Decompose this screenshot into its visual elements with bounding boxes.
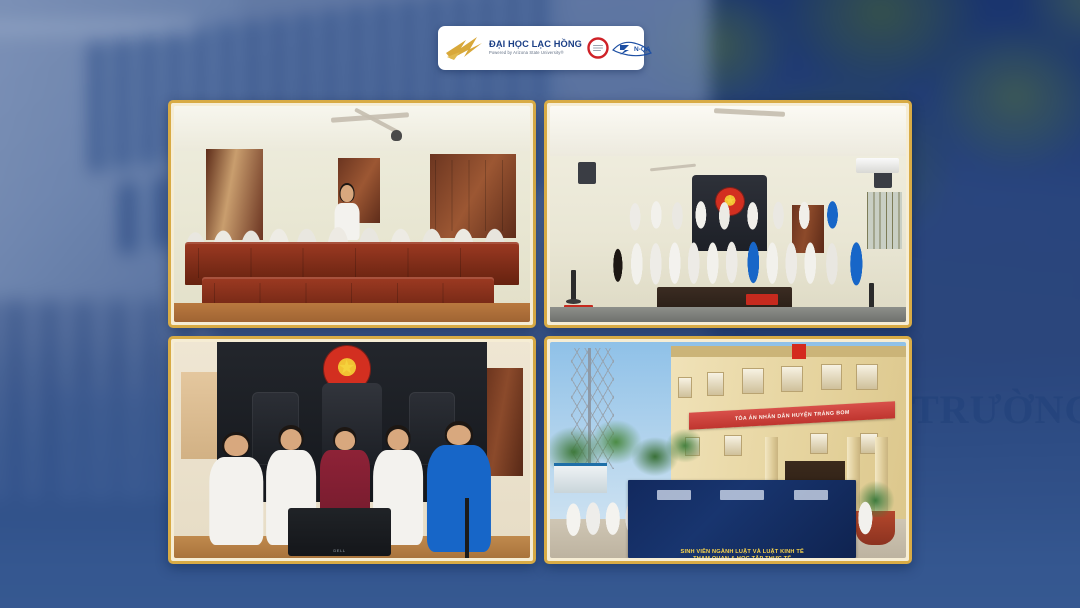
security-camera-icon	[391, 130, 402, 141]
robe-student-head	[327, 428, 363, 476]
microphone-stand	[465, 498, 469, 558]
banner-line-1: SINH VIÊN NGÀNH LUẬT VÀ LUẬT KINH TẾ	[681, 549, 804, 556]
building-window	[742, 368, 763, 394]
photo-courtroom-group	[550, 106, 906, 322]
university-tagline: Powered by Arizona State University®	[489, 51, 582, 56]
event-banner: SINH VIÊN NGÀNH LUẬT VÀ LUẬT KINH TẾ THA…	[628, 480, 856, 558]
lhu-arrow-logo-icon	[444, 33, 484, 63]
photo-frame-courtroom-audience[interactable]	[168, 100, 536, 328]
building-window	[707, 372, 725, 396]
building-window	[821, 364, 842, 390]
student-person	[210, 433, 263, 545]
photo-frame-courtroom-group[interactable]	[544, 100, 912, 328]
svg-text:N-QA: N-QA	[634, 46, 651, 53]
building-window	[810, 433, 828, 455]
banner-logo-chip	[794, 490, 828, 500]
university-name: ĐẠI HỌC LẠC HỒNG	[489, 40, 582, 50]
banner-line-2: THAM QUAN & HỌC TẬP THỰC TẾ	[693, 556, 791, 559]
wall-speaker	[578, 162, 596, 184]
banner-logo-chip	[720, 490, 764, 500]
banner-logo-chip	[657, 490, 691, 500]
banner-sponsor-logos	[628, 486, 856, 503]
photo-judge-bench	[174, 342, 530, 558]
building-window	[678, 377, 692, 399]
courtroom-floor	[550, 307, 906, 322]
courthouse-roofline	[671, 346, 906, 357]
accreditation-seal-icon	[587, 37, 609, 59]
photo-frame-judge-bench[interactable]	[168, 336, 536, 564]
watermark-text: TRƯỜNG Đ	[912, 386, 1080, 433]
microphone	[571, 270, 576, 300]
photo-grid: TÒA ÁN NHÂN DÂN HUYỆN TRẢNG BOM	[168, 100, 912, 572]
photo-frame-courthouse-exterior[interactable]: TÒA ÁN NHÂN DÂN HUYỆN TRẢNG BOM	[544, 336, 912, 564]
vietnam-flag	[792, 344, 806, 359]
dell-monitor	[288, 508, 391, 556]
nqa-accreditation-icon: N-QA	[612, 38, 652, 58]
presentation-slide: TRƯỜNG Đ ĐẠI HỌC LẠC HỒNG Powered by Ari…	[0, 0, 1080, 608]
courtroom-floor	[174, 303, 530, 322]
courtroom-ceiling	[174, 106, 530, 151]
photo-courthouse-exterior: TÒA ÁN NHÂN DÂN HUYỆN TRẢNG BOM	[550, 342, 906, 558]
lhu-wordmark: ĐẠI HỌC LẠC HỒNG Powered by Arizona Stat…	[489, 40, 582, 56]
university-logo-bar: ĐẠI HỌC LẠC HỒNG Powered by Arizona Stat…	[438, 26, 644, 70]
building-window	[781, 366, 802, 392]
photo-courtroom-audience	[174, 106, 530, 322]
desk-nameplate	[746, 294, 778, 305]
air-conditioner	[856, 158, 899, 173]
accreditation-badges: N-QA	[587, 37, 652, 59]
building-window	[856, 364, 877, 390]
building-window	[724, 435, 742, 457]
student-group-back-row	[621, 188, 856, 236]
courthouse-sign-text: TÒA ÁN NHÂN DÂN HUYỆN TRẢNG BOM	[735, 409, 850, 421]
student-person-blue-shirt	[427, 422, 491, 552]
